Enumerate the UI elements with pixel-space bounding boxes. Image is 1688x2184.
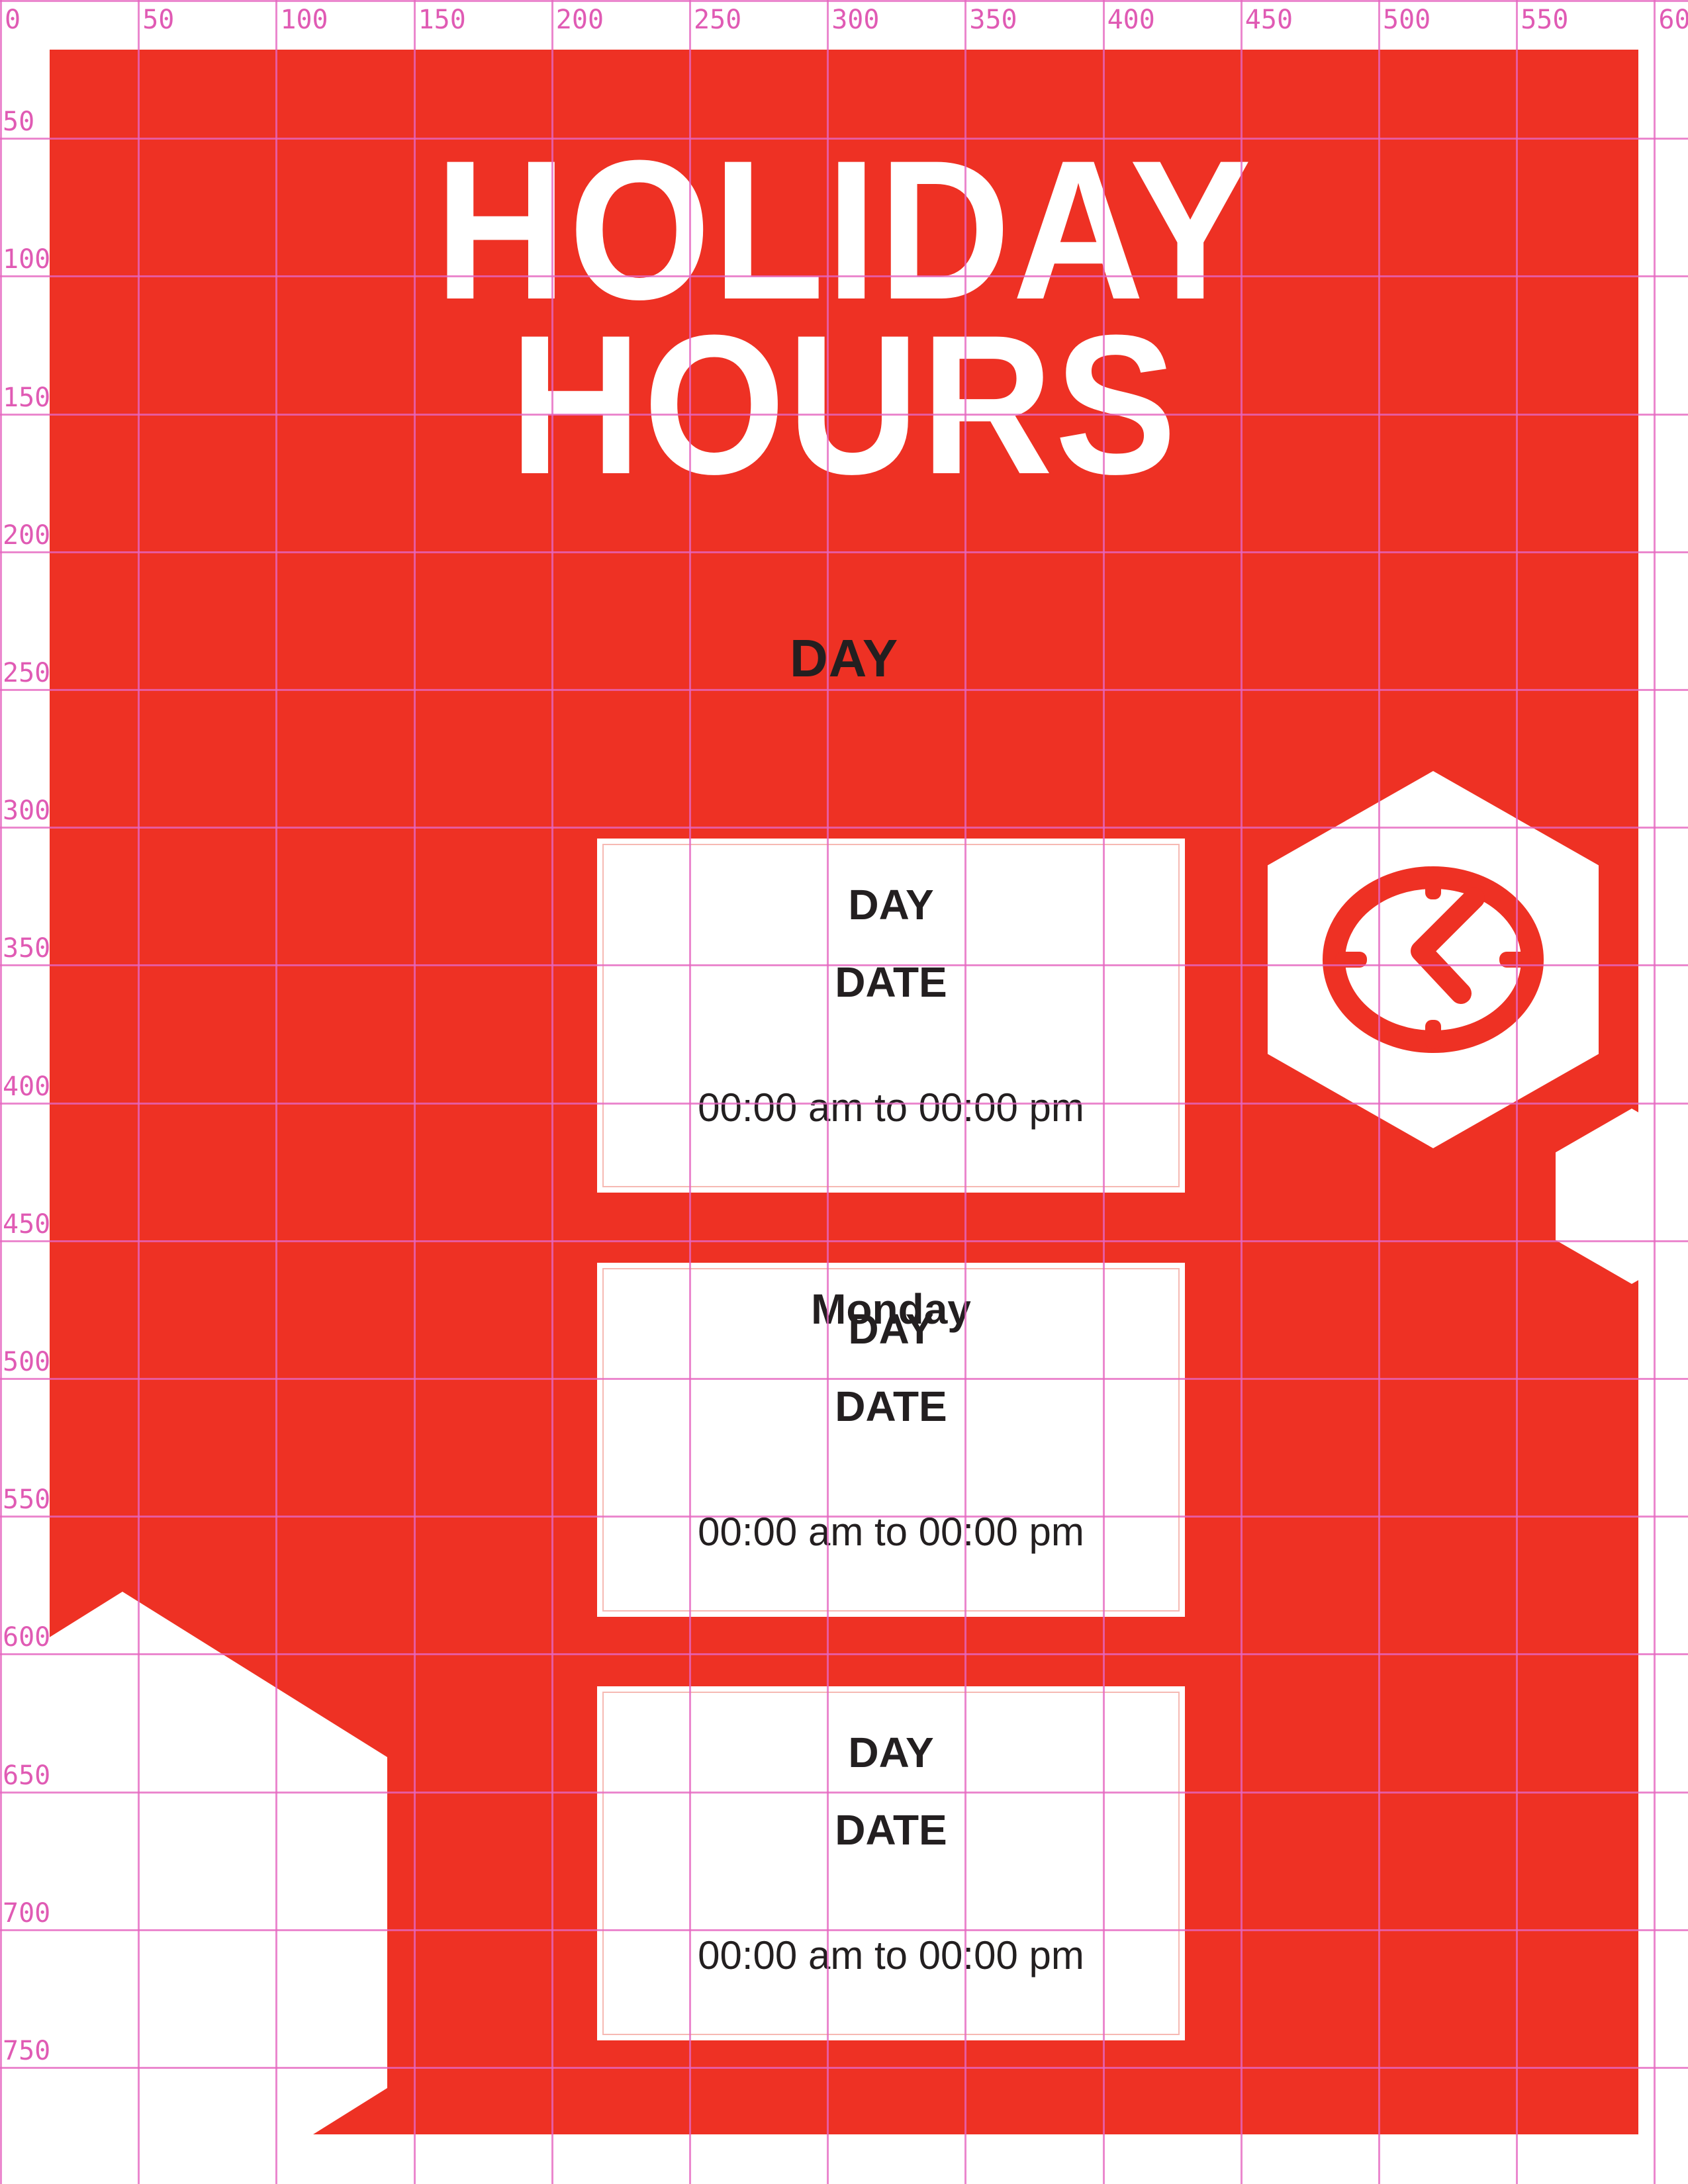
- poster-canvas: HOLIDAY HOURS DAY DAY DATE 00:00 am to 0…: [0, 0, 1688, 2184]
- card-date-label: DATE: [597, 961, 1185, 1003]
- ruler-tick-label-y: 150: [3, 385, 50, 411]
- ruler-tick-label-y: 300: [3, 797, 50, 824]
- subtitle-day: DAY: [50, 632, 1638, 685]
- ruler-tick-label-y: 250: [3, 660, 50, 686]
- card-day-label: DAY: [597, 884, 1185, 926]
- ruler-tick-label-y: 550: [3, 1486, 50, 1513]
- page-title: HOLIDAY HOURS: [50, 142, 1638, 492]
- ruler-tick-label-y: 500: [3, 1349, 50, 1375]
- ruler-tick-label-x: 50: [142, 7, 174, 33]
- ruler-tick-label-x: 350: [969, 7, 1017, 33]
- card-day-label: DAY: [597, 1308, 1185, 1350]
- ruler-tick-label-x: 550: [1521, 7, 1568, 33]
- gridline-vertical: [1654, 0, 1656, 2184]
- card-hours-label: 00:00 am to 00:00 pm: [597, 1512, 1185, 1552]
- ruler-tick-label-y: 200: [3, 522, 50, 549]
- gridline-horizontal: [0, 0, 1688, 2]
- schedule-card[interactable]: DAY DATE 00:00 am to 00:00 pm: [597, 1686, 1185, 2040]
- schedule-card[interactable]: Monday DAY DATE 00:00 am to 00:00 pm: [597, 1263, 1185, 1617]
- ruler-tick-label-x: 450: [1245, 7, 1293, 33]
- ruler-tick-label-x: 250: [694, 7, 741, 33]
- ruler-tick-label-x: 500: [1383, 7, 1430, 33]
- ruler-tick-label-x: 100: [280, 7, 328, 33]
- ruler-tick-label-y: 750: [3, 2038, 50, 2064]
- clock-icon: [1321, 864, 1546, 1056]
- title-line-2: HOURS: [113, 317, 1575, 492]
- ruler-tick-label-y: 400: [3, 1073, 50, 1100]
- ruler-tick-label-y: 50: [3, 109, 34, 135]
- card-date-label: DATE: [597, 1809, 1185, 1851]
- ruler-tick-label-y: 450: [3, 1211, 50, 1238]
- ruler-tick-label-x: 600: [1658, 7, 1688, 33]
- card-hours-label: 00:00 am to 00:00 pm: [597, 1936, 1185, 1976]
- ruler-tick-label-x: 400: [1107, 7, 1155, 33]
- card-day-label: DAY: [597, 1731, 1185, 1774]
- title-line-1: HOLIDAY: [113, 142, 1575, 317]
- schedule-card[interactable]: DAY DATE 00:00 am to 00:00 pm: [597, 839, 1185, 1193]
- ruler-tick-label-x: 0: [5, 7, 21, 33]
- card-hours-label: 00:00 am to 00:00 pm: [597, 1088, 1185, 1128]
- ruler-tick-label-y: 100: [3, 246, 50, 273]
- ruler-tick-label-y: 350: [3, 935, 50, 962]
- gridline-vertical: [0, 0, 2, 2184]
- ruler-tick-label-x: 300: [831, 7, 879, 33]
- ruler-tick-label-x: 200: [556, 7, 604, 33]
- ruler-tick-label-x: 150: [418, 7, 466, 33]
- ruler-tick-label-y: 650: [3, 1762, 50, 1789]
- hexagon-shape-small: [1556, 1109, 1638, 1284]
- poster-background: HOLIDAY HOURS DAY DAY DATE 00:00 am to 0…: [50, 50, 1638, 2134]
- ruler-tick-label-y: 700: [3, 1900, 50, 1927]
- card-date-label: DATE: [597, 1385, 1185, 1428]
- ruler-tick-label-y: 600: [3, 1624, 50, 1651]
- hexagon-shape-large: [50, 1592, 387, 2134]
